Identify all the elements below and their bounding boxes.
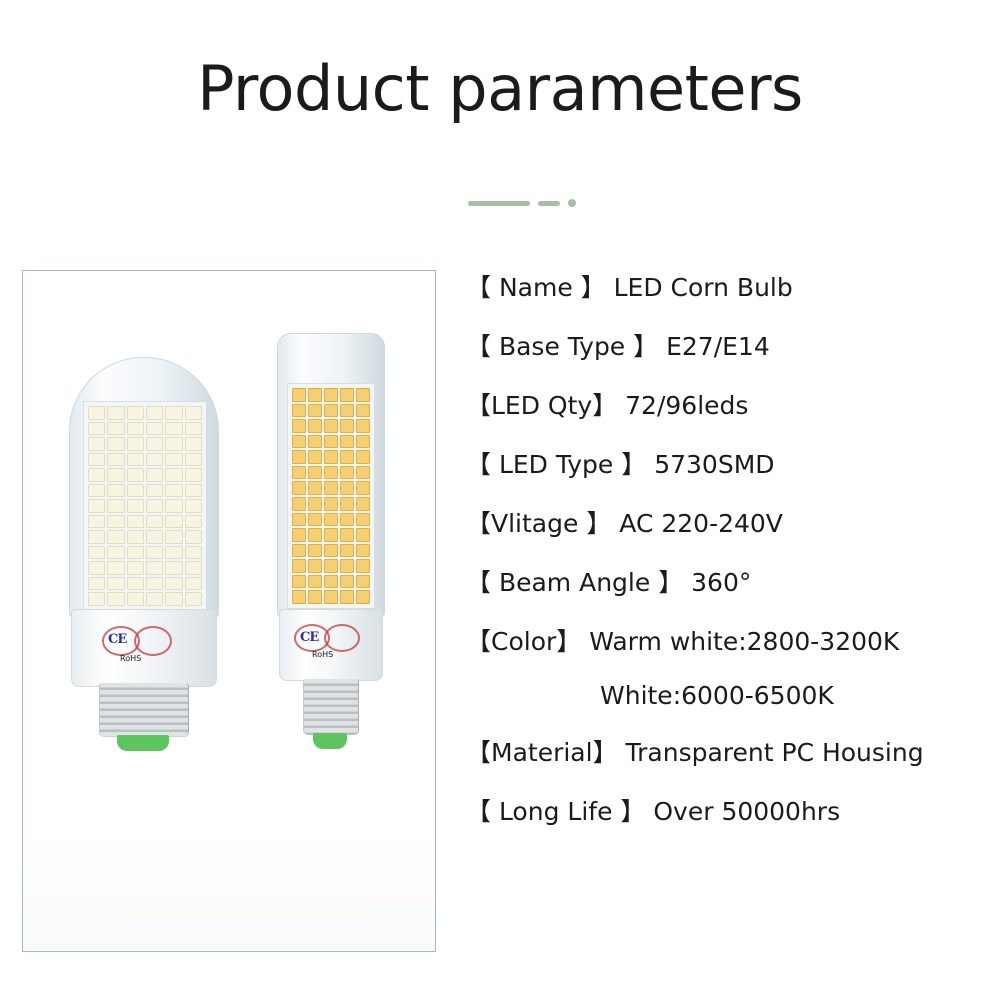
base-tip [313, 733, 347, 749]
spec-row-color: 【Color】 Warm white:2800-3200K [466, 622, 986, 658]
rohs-mark-icon: RoHS [312, 650, 333, 659]
bulb-housing: CE RoHS [279, 609, 383, 681]
spec-key: 【Vlitage 】 [466, 509, 611, 538]
bulb-housing: CE RoHS [71, 609, 217, 687]
rohs-mark-icon: RoHS [120, 654, 141, 663]
product-image-panel: CE RoHS [22, 270, 436, 952]
spec-row-name: 【 Name 】 LED Corn Bulb [466, 268, 986, 304]
page-title: Product parameters [0, 52, 1000, 125]
spec-value: E27/E14 [666, 332, 770, 361]
section-divider [468, 199, 576, 207]
led-board [83, 401, 207, 611]
spec-value: Transparent PC Housing [626, 738, 924, 767]
image-reflection [23, 831, 435, 951]
rohs-ring-icon [134, 626, 172, 656]
spec-row-color-second-line: White:6000-6500K [466, 681, 986, 710]
e27-screw-base [99, 683, 189, 737]
spec-value: Warm white:2800-3200K [589, 627, 899, 656]
spec-list: 【 Name 】 LED Corn Bulb 【 Base Type 】 E27… [466, 268, 986, 851]
spec-value: 360° [691, 568, 751, 597]
spec-key: 【 Beam Angle 】 [466, 568, 683, 597]
ce-mark-icon: CE [108, 632, 126, 647]
spec-value: 72/96leds [625, 391, 748, 420]
spec-value: 5730SMD [654, 450, 774, 479]
spec-key: 【 Long Life 】 [466, 797, 645, 826]
divider-dot [568, 199, 576, 207]
spec-key: 【LED Qty】 [466, 391, 617, 420]
divider-bar-short [538, 201, 560, 206]
led-array [292, 388, 370, 604]
product-parameters-page: Product parameters [0, 0, 1000, 1000]
spec-row-voltage: 【Vlitage 】 AC 220-240V [466, 504, 986, 540]
spec-key: 【Material】 [466, 738, 618, 767]
spec-row-base-type: 【 Base Type 】 E27/E14 [466, 327, 986, 363]
spec-row-beam-angle: 【 Beam Angle 】 360° [466, 563, 986, 599]
spec-key: 【Color】 [466, 627, 581, 656]
spec-value: White:6000-6500K [600, 681, 834, 710]
base-tip [117, 735, 169, 751]
led-array [88, 406, 202, 606]
led-board [287, 383, 375, 609]
spec-key: 【 LED Type 】 [466, 450, 646, 479]
spec-row-material: 【Material】 Transparent PC Housing [466, 733, 986, 769]
spec-row-long-life: 【 Long Life 】 Over 50000hrs [466, 792, 986, 828]
spec-row-led-type: 【 LED Type 】 5730SMD [466, 445, 986, 481]
e14-screw-base [303, 679, 359, 735]
divider-bar-long [468, 201, 530, 206]
spec-value: Over 50000hrs [653, 797, 840, 826]
spec-row-led-qty: 【LED Qty】 72/96leds [466, 386, 986, 422]
spec-key: 【 Base Type 】 [466, 332, 658, 361]
spec-value: LED Corn Bulb [614, 273, 793, 302]
rohs-ring-icon [324, 624, 360, 652]
ce-mark-icon: CE [300, 630, 318, 645]
spec-value: AC 220-240V [619, 509, 783, 538]
spec-key: 【 Name 】 [466, 273, 606, 302]
